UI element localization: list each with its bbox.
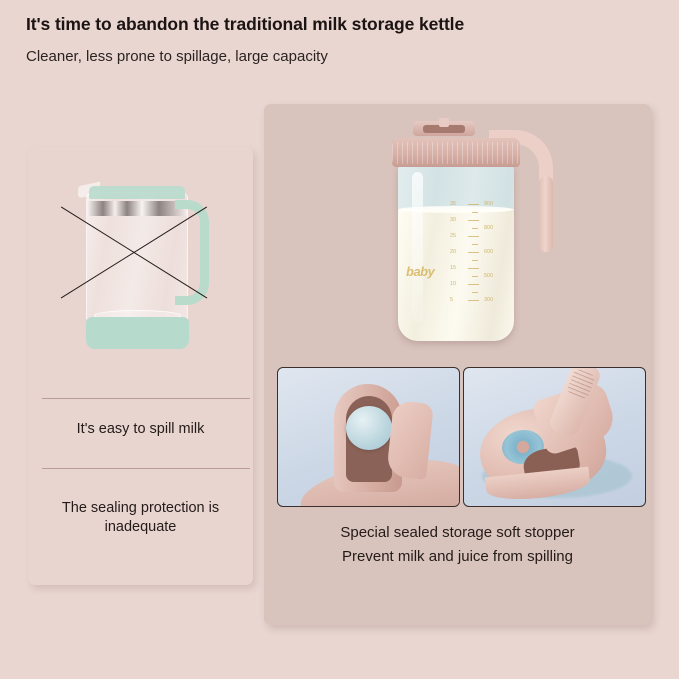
milk-storage-bottle-icon: baby 35 30 25 xyxy=(381,116,561,351)
glass-highlight xyxy=(412,172,423,322)
scale-label-left: 5 xyxy=(450,297,453,303)
old-kettle-illustration xyxy=(28,147,253,385)
stopper-side-flap xyxy=(386,400,434,480)
scale-label-right: 300 xyxy=(484,297,493,303)
kettle-lid xyxy=(89,186,185,199)
scale-label-left: 35 xyxy=(450,201,456,207)
divider xyxy=(42,468,250,469)
header: It's time to abandon the traditional mil… xyxy=(26,14,656,66)
silicone-seal-disc-icon xyxy=(346,406,392,450)
scale-label-right: 900 xyxy=(484,201,493,207)
detail-photo-lid-valve xyxy=(463,367,646,507)
scale-label-right: 500 xyxy=(484,273,493,279)
right-panel: baby 35 30 25 xyxy=(264,104,651,625)
scale-label-left: 25 xyxy=(450,233,456,239)
right-caption-stopper: Special sealed storage soft stopper xyxy=(264,523,651,543)
scale-label-left: 10 xyxy=(450,281,456,287)
lever-nub xyxy=(439,118,449,127)
handle-grip xyxy=(539,176,553,252)
kettle-base xyxy=(86,317,189,349)
bottle-body: baby 35 30 25 xyxy=(398,164,514,341)
scale-label-left: 30 xyxy=(450,217,456,223)
scale-label-right: 600 xyxy=(484,249,493,255)
cap-ribbing xyxy=(392,142,520,164)
scale-label-right: 800 xyxy=(484,225,493,231)
brand-label: baby xyxy=(406,264,434,279)
glass-kettle-icon xyxy=(76,174,198,349)
detail-photo-sealed-stopper xyxy=(277,367,460,507)
scale-label-left: 15 xyxy=(450,265,456,271)
kettle-collar xyxy=(87,201,187,216)
left-caption-sealing: The sealing protection is inadequate xyxy=(28,499,253,537)
scale-label-left: 20 xyxy=(450,249,456,255)
divider xyxy=(42,398,250,399)
page-title: It's time to abandon the traditional mil… xyxy=(26,14,656,35)
bottle-cap xyxy=(392,138,520,167)
left-panel: It's easy to spill milk The sealing prot… xyxy=(28,147,253,585)
left-caption-spill: It's easy to spill milk xyxy=(28,420,253,439)
right-caption-prevent-spill: Prevent milk and juice from spilling xyxy=(264,547,651,567)
cap-flip-lever xyxy=(413,121,475,136)
page-subtitle: Cleaner, less prone to spillage, large c… xyxy=(26,48,656,66)
lever-ribbing xyxy=(566,368,596,400)
measurement-scale: 35 30 25 20 15 10 5 900 800 600 500 300 xyxy=(450,202,508,314)
hero-product-image: baby 35 30 25 xyxy=(264,104,651,359)
